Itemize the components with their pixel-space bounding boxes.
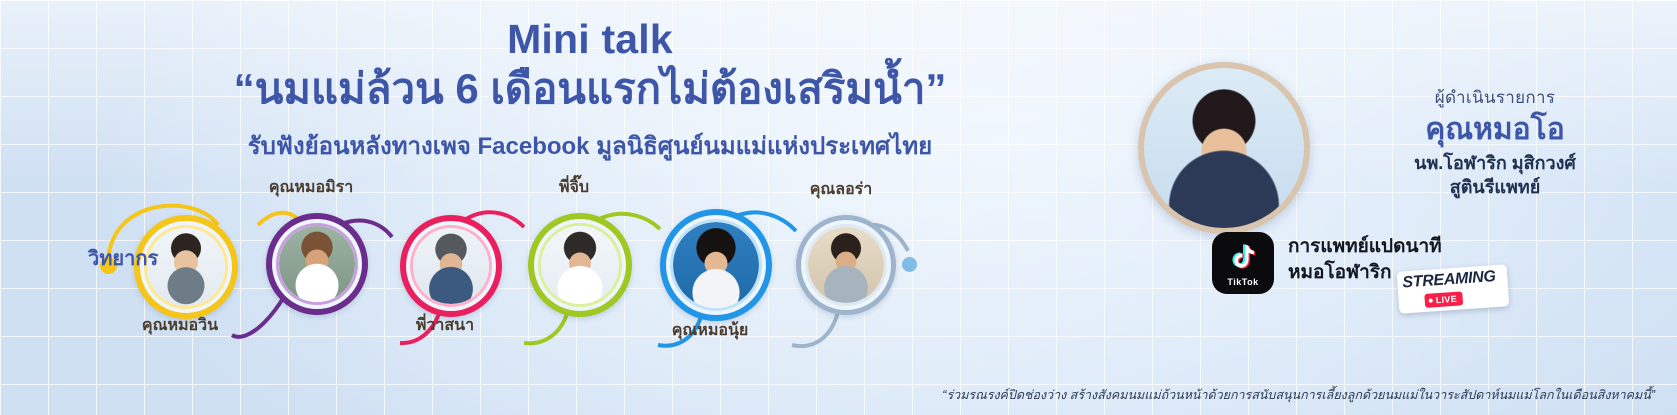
host-nickname: คุณหมอโอ	[1320, 113, 1670, 146]
speaker-6-name: คุณลอร่า	[761, 177, 921, 202]
speaker-5-ring[interactable]	[660, 209, 772, 321]
tiktok-wordmark: TikTok	[1227, 277, 1258, 287]
headline-block: Mini talk “นมแม่ล้วน 6 เดือนแรกไม่ต้องเส…	[0, 18, 1180, 165]
host-text-block: ผู้ดำเนินรายการ คุณหมอโอ นพ.โอฬาริก มุสิ…	[1320, 84, 1670, 200]
headline-quote: “นมแม่ล้วน 6 เดือนแรกไม่ต้องเสริมน้ำ”	[0, 63, 1180, 114]
speaker-4-inner-ring	[538, 223, 622, 307]
speaker-5-inner-ring	[670, 219, 762, 311]
speaker-3-inner-ring	[410, 225, 492, 307]
speaker-4-ring[interactable]	[528, 213, 632, 317]
speaker-5-avatar	[673, 222, 759, 308]
speakers-row: คุณหมอวิน คุณหมอมิรา พี่วาสนา	[0, 185, 1060, 360]
live-badge: LIVE	[1424, 291, 1463, 308]
speaker-4-avatar	[541, 226, 619, 304]
footer-caption: “ร่วมรณรงค์ปิดช่องว่าง สร้างสังคมนมแม่ถ้…	[942, 385, 1655, 405]
headline-subtitle: รับฟังย้อนหลังทางเพจ Facebook มูลนิธิศูน…	[0, 126, 1180, 165]
tiktok-icon[interactable]: TikTok	[1212, 232, 1274, 294]
host-fullname: นพ.โอฬาริก มุสิกวงศ์	[1320, 152, 1670, 176]
host-role: ผู้ดำเนินรายการ	[1320, 84, 1670, 111]
poster-canvas: Mini talk “นมแม่ล้วน 6 เดือนแรกไม่ต้องเส…	[0, 0, 1677, 415]
speaker-2-avatar	[279, 226, 355, 302]
headline-main: Mini talk	[0, 18, 1180, 61]
host-avatar	[1144, 68, 1304, 228]
connector-dot-7	[902, 257, 917, 272]
speaker-2-ring[interactable]	[266, 213, 368, 315]
tiktok-note-glyph	[1226, 242, 1260, 276]
host-panel: ผู้ดำเนินรายการ คุณหมอโอ นพ.โอฬาริก มุสิ…	[1120, 52, 1677, 382]
speaker-3-avatar	[413, 228, 489, 304]
host-avatar-frame[interactable]	[1138, 62, 1310, 234]
speaker-2-inner-ring	[276, 223, 358, 305]
speaker-6-avatar	[808, 227, 884, 303]
speaker-2-name: คุณหมอมิรา	[231, 175, 391, 200]
speaker-6-ring[interactable]	[796, 215, 896, 315]
speaker-1-avatar	[147, 228, 225, 306]
streaming-badge[interactable]: STREAMING LIVE	[1397, 264, 1510, 314]
host-specialty: สูตินรีแพทย์	[1320, 176, 1670, 200]
speaker-6-inner-ring	[805, 224, 887, 306]
speaker-4-name: พี่จิ๊บ	[494, 175, 654, 200]
live-label: LIVE	[1435, 294, 1457, 305]
tiktok-channel-line1: การแพทย์แปดนาที	[1288, 234, 1442, 260]
speakers-label: วิทยากร	[88, 242, 158, 274]
speaker-1-name: คุณหมอวิน	[100, 313, 260, 338]
live-dot-icon	[1429, 298, 1433, 302]
speaker-3-ring[interactable]	[400, 215, 502, 317]
speaker-3-name: พี่วาสนา	[365, 313, 525, 338]
speaker-5-name: คุณหมอนุ้ย	[630, 318, 790, 343]
